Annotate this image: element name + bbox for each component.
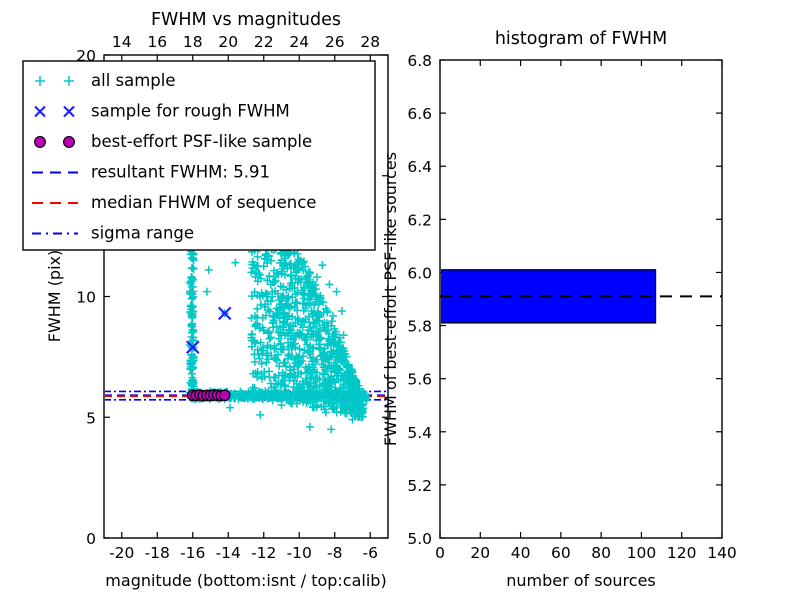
legend-label: median FHWM of sequence	[91, 193, 316, 212]
legend-box	[23, 61, 375, 250]
ticklabel-x: 120	[667, 544, 697, 562]
ticklabel-x-top: 16	[147, 33, 167, 51]
ticklabel-x: 100	[627, 544, 657, 562]
legend-marker-circle	[35, 137, 46, 148]
ticklabel-x: 140	[707, 544, 737, 562]
ticklabel-y: 5.4	[407, 424, 432, 442]
legend-marker-circle	[64, 137, 75, 148]
legend-label: best-effort PSF-like sample	[91, 132, 312, 151]
ticklabel-x: 40	[511, 544, 531, 562]
ticklabel-x-bottom: -14	[216, 544, 241, 562]
ticklabel-x-top: 22	[254, 33, 274, 51]
ticklabel-y: 10	[76, 289, 96, 307]
legend: all samplesample for rough FWHMbest-effo…	[23, 61, 375, 250]
matplotlib-figure: FWHM vs magnitudes -2014-1816-1618-1420-…	[0, 0, 800, 600]
left-panel-title: FWHM vs magnitudes	[151, 10, 341, 30]
ticklabel-x-bottom: -12	[251, 544, 276, 562]
ticklabel-x-bottom: -16	[180, 544, 205, 562]
ticklabel-x-bottom: -20	[109, 544, 134, 562]
ticklabel-y: 6.0	[407, 264, 432, 282]
ticklabel-x: 80	[591, 544, 611, 562]
right-yaxis-label: FWHM of best-effort PSF-like sources	[381, 152, 400, 446]
ticklabel-y: 6.6	[407, 105, 432, 123]
ticklabel-x-bottom: -18	[145, 544, 170, 562]
ticklabel-x-top: 26	[325, 33, 345, 51]
ticklabel-x-top: 18	[183, 33, 203, 51]
ticklabel-y: 5	[86, 409, 96, 427]
ticklabel-y: 0	[86, 530, 96, 548]
ticklabel-x-bottom: -6	[363, 544, 378, 562]
left-xaxis-label: magnitude (bottom:isnt / top:calib)	[105, 571, 386, 590]
ticklabel-y: 5.6	[407, 371, 432, 389]
ticklabel-x-top: 24	[289, 33, 309, 51]
ticklabel-y: 5.0	[407, 530, 432, 548]
ticklabel-y: 5.2	[407, 477, 432, 495]
ticklabel-x-bottom: -8	[327, 544, 342, 562]
ticklabel-x-top: 14	[112, 33, 132, 51]
ticklabel-y: 6.4	[407, 158, 432, 176]
marker-psf-circle	[220, 390, 230, 400]
ticklabel-x: 60	[551, 544, 571, 562]
left-yaxis-label: FWHM (pix)	[45, 250, 64, 343]
right-panel-title: histogram of FWHM	[495, 29, 667, 49]
ticklabel-x-top: 20	[218, 33, 238, 51]
ticklabel-y: 6.8	[407, 52, 432, 70]
ticklabel-y: 5.8	[407, 318, 432, 336]
legend-label: resultant FWHM: 5.91	[91, 163, 270, 182]
ticklabel-x: 0	[435, 544, 445, 562]
legend-label: sample for rough FWHM	[91, 102, 290, 121]
legend-label: all sample	[91, 71, 176, 90]
scatter-psf-sample	[188, 390, 230, 401]
right-xaxis-label: number of sources	[506, 571, 656, 590]
ticklabel-x-top: 28	[360, 33, 380, 51]
figure-canvas: FWHM vs magnitudes -2014-1816-1618-1420-…	[0, 0, 800, 600]
legend-label: sigma range	[91, 224, 194, 243]
ticklabel-x-bottom: -10	[287, 544, 312, 562]
ticklabel-y: 6.2	[407, 211, 432, 229]
ticklabel-x: 20	[470, 544, 490, 562]
